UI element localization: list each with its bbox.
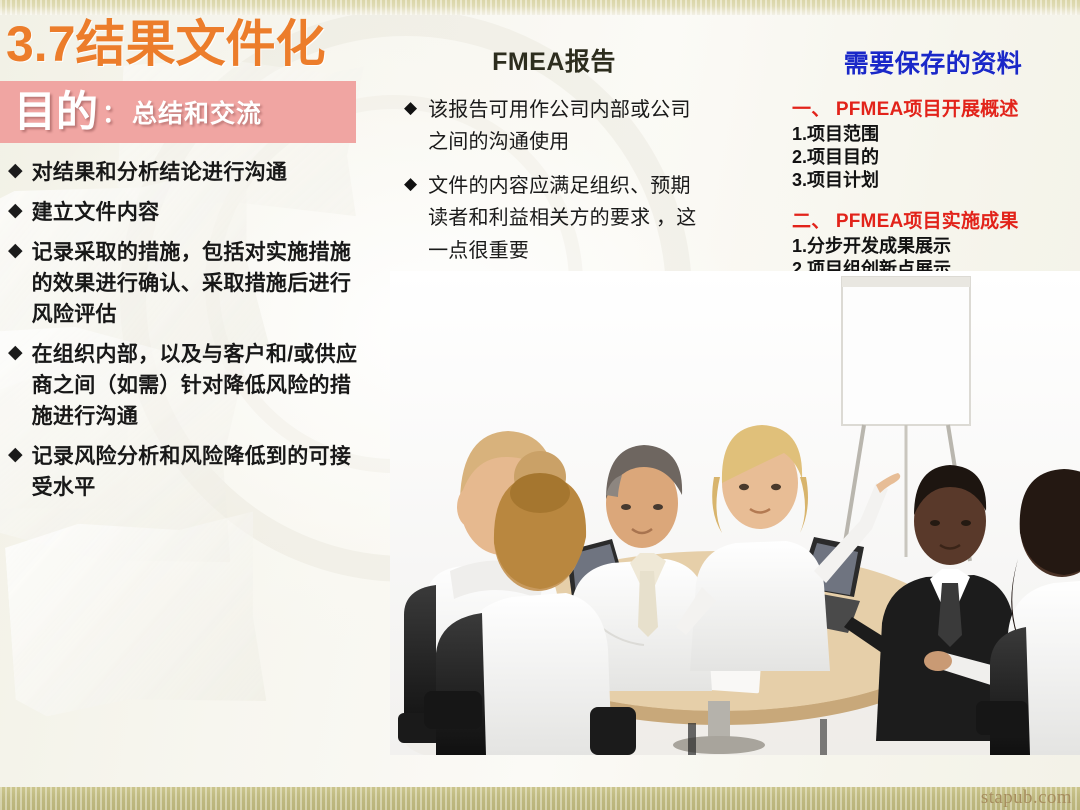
right-section: 二、 PFMEA项目实施成果 1.分步开发成果展示 2.项目组创新点展示 xyxy=(792,206,1074,281)
list-item-text: 在组织内部，以及与客户和/或供应商之间（如需）针对降低风险的措施进行沟通 xyxy=(32,339,372,432)
list-item-text: 建立文件内容 xyxy=(32,197,160,228)
section-line: 1.项目范围 xyxy=(792,123,1074,146)
list-item-text: 文件的内容应满足组织、预期读者和利益相关方的要求 ，这一点很重要 xyxy=(428,170,704,267)
list-item: ◆ 对结果和分析结论进行沟通 xyxy=(8,157,372,188)
slide-title: 3.7结果文件化 xyxy=(0,18,372,71)
list-item: ◆ 记录采取的措施，包括对实施措施的效果进行确认、采取措施后进行风险评估 xyxy=(8,237,372,330)
list-item-text: 该报告可用作公司内部或公司之间的沟通使用 xyxy=(428,94,704,159)
middle-column-title: FMEA报告 xyxy=(404,42,704,78)
paper-texture-shape xyxy=(4,512,267,719)
purpose-separator: ： xyxy=(102,94,128,130)
right-column-title: 需要保存的资料 xyxy=(792,44,1074,80)
diamond-bullet-icon: ◆ xyxy=(8,238,23,265)
list-item: ◆ 该报告可用作公司内部或公司之间的沟通使用 xyxy=(404,94,704,159)
diamond-bullet-icon: ◆ xyxy=(8,442,23,469)
purpose-banner: 目的 ： 总结和交流 xyxy=(0,81,356,143)
diamond-bullet-icon: ◆ xyxy=(8,198,23,225)
section-line: 2.项目目的 xyxy=(792,146,1074,169)
slide-root: 3.7结果文件化 目的 ： 总结和交流 ◆ 对结果和分析结论进行沟通 ◆ 建立文… xyxy=(0,0,1080,810)
section-line: 3.项目计划 xyxy=(792,169,1074,192)
right-section: 一、 PFMEA项目开展概述 1.项目范围 2.项目目的 3.项目计划 xyxy=(792,94,1074,192)
section-heading: 二、 PFMEA项目实施成果 xyxy=(792,206,1074,233)
bottom-decorative-band xyxy=(0,787,1080,810)
watermark: stapub.com xyxy=(981,787,1072,809)
diamond-bullet-icon: ◆ xyxy=(8,158,23,185)
purpose-value: 总结和交流 xyxy=(132,94,262,130)
diamond-bullet-icon: ◆ xyxy=(404,171,417,197)
list-item-text: 对结果和分析结论进行沟通 xyxy=(32,157,288,188)
section-line: 1.分步开发成果展示 xyxy=(792,235,1074,258)
purpose-label: 目的 xyxy=(14,91,98,133)
list-item: ◆ 记录风险分析和风险降低到的可接受水平 xyxy=(8,441,372,503)
left-column: 3.7结果文件化 目的 ： 总结和交流 ◆ 对结果和分析结论进行沟通 ◆ 建立文… xyxy=(0,18,372,512)
top-decorative-band xyxy=(0,0,1080,15)
list-item: ◆ 在组织内部，以及与客户和/或供应商之间（如需）针对降低风险的措施进行沟通 xyxy=(8,339,372,432)
meeting-photo-illustration xyxy=(390,271,1080,755)
list-item-text: 记录采取的措施，包括对实施措施的效果进行确认、采取措施后进行风险评估 xyxy=(32,237,372,330)
meeting-photo xyxy=(390,271,1080,755)
left-bullet-list: ◆ 对结果和分析结论进行沟通 ◆ 建立文件内容 ◆ 记录采取的措施，包括对实施措… xyxy=(0,157,372,504)
section-heading: 一、 PFMEA项目开展概述 xyxy=(792,94,1074,121)
diamond-bullet-icon: ◆ xyxy=(404,95,417,121)
list-item-text: 记录风险分析和风险降低到的可接受水平 xyxy=(32,441,372,503)
list-item: ◆ 文件的内容应满足组织、预期读者和利益相关方的要求 ，这一点很重要 xyxy=(404,170,704,267)
list-item: ◆ 建立文件内容 xyxy=(8,197,372,228)
diamond-bullet-icon: ◆ xyxy=(8,340,23,367)
